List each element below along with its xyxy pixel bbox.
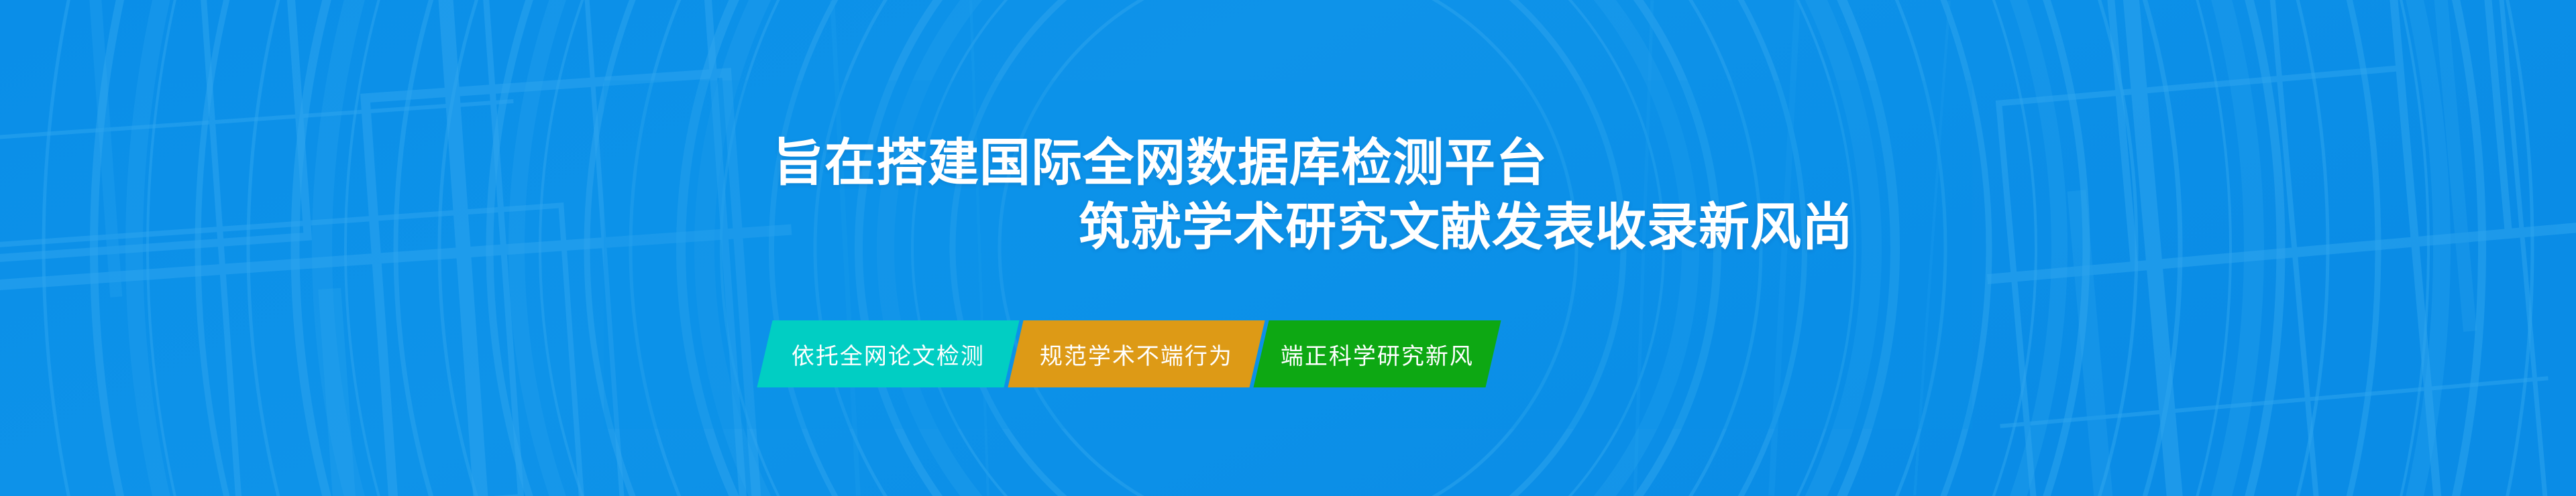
feature-tag-1-label: 依托全网论文检测 — [774, 338, 1002, 371]
background-artwork — [0, 0, 2576, 496]
feature-tag-3-label: 端正科学研究新风 — [1263, 338, 1491, 371]
feature-tag-2-label: 规范学术不端行为 — [1022, 338, 1250, 371]
promo-banner: 旨在搭建国际全网数据库检测平台 筑就学术研究文献发表收录新风尚 依托全网论文检测… — [0, 0, 2576, 496]
feature-tag-1[interactable]: 依托全网论文检测 — [757, 320, 1019, 387]
feature-tag-3[interactable]: 端正科学研究新风 — [1253, 320, 1501, 387]
feature-tag-2[interactable]: 规范学术不端行为 — [1008, 320, 1265, 387]
feature-tag-strip: 依托全网论文检测 规范学术不端行为 端正科学研究新风 — [765, 320, 1493, 387]
